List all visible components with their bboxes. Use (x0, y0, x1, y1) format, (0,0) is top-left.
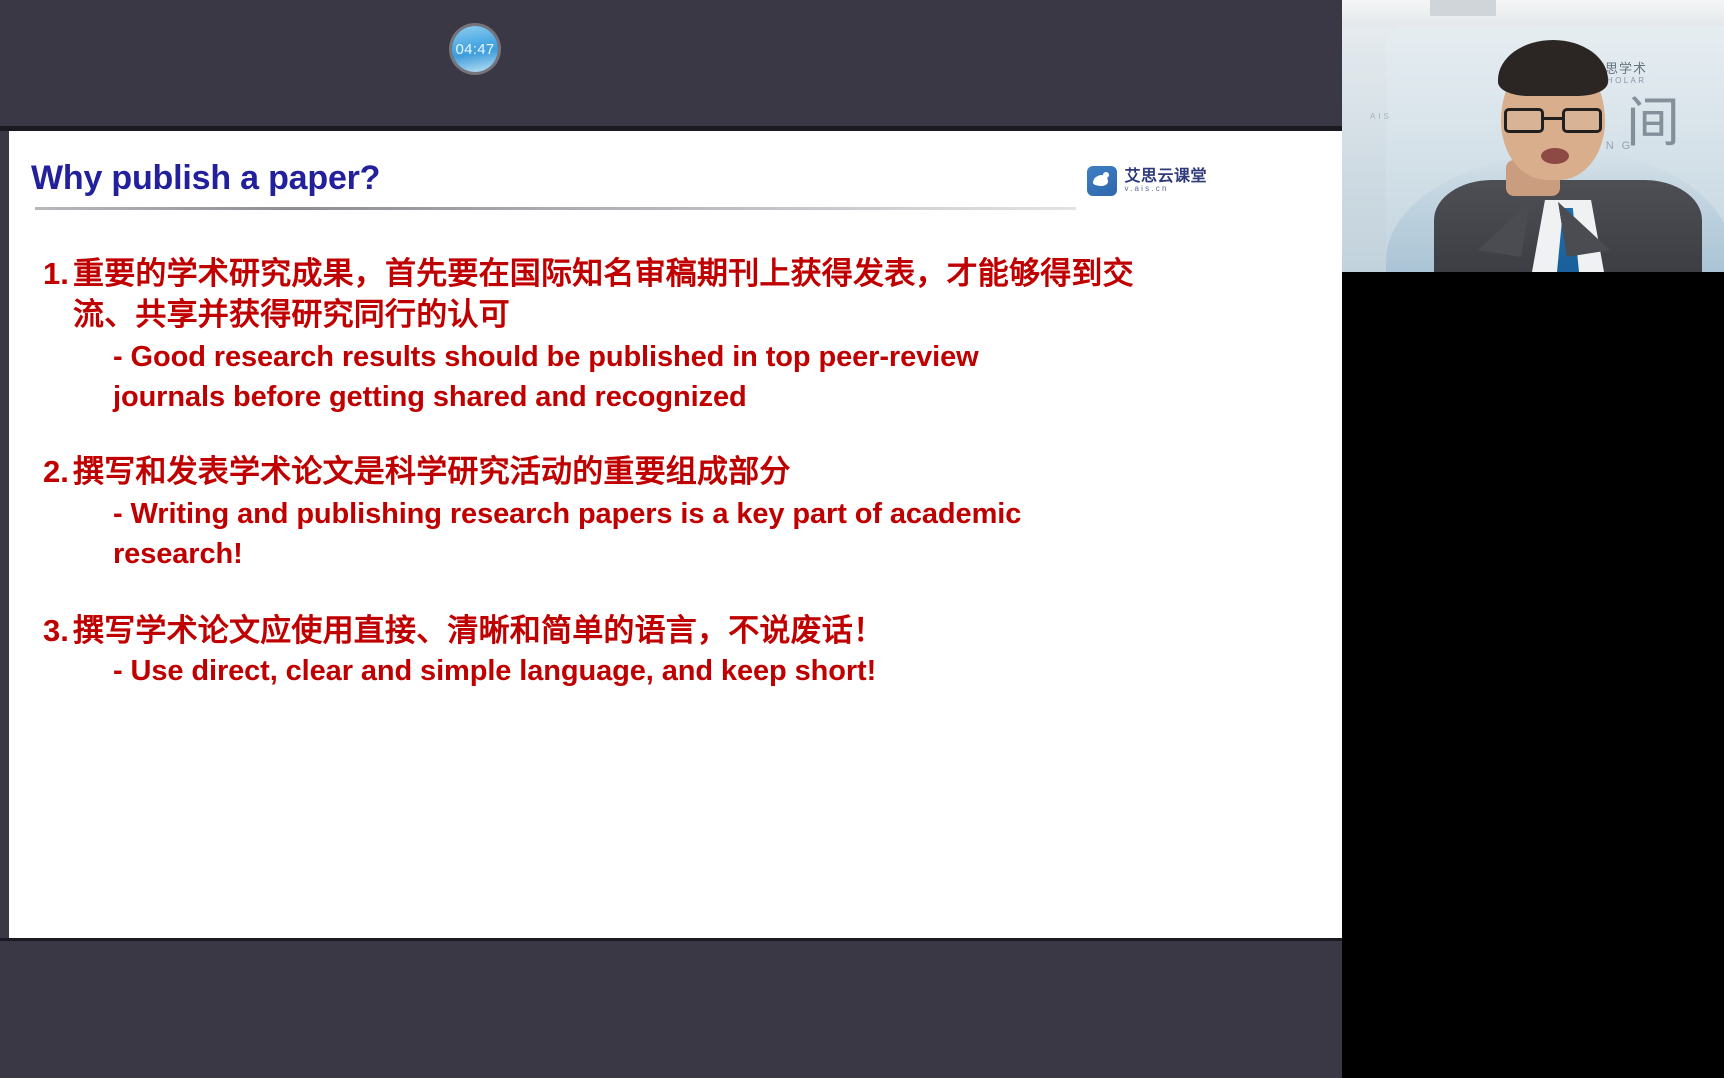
presentation-stage: 04:47 Why publish a paper? 艾思云课堂 v.ais.c… (0, 0, 1342, 1078)
presenter-webcam-video[interactable]: AIS 艾思学术 SCHOLAR 间 LEARNING (1342, 0, 1724, 272)
slide-canvas: Why publish a paper? 艾思云课堂 v.ais.cn 1. 重… (9, 131, 1342, 938)
bullet-item-3: 3. 撰写学术论文应使用直接、清晰和简单的语言，不说废话！ - Use dire… (37, 610, 1316, 691)
bullet-3-text-en: - Use direct, clear and simple language,… (113, 651, 1063, 691)
glasses-lens-right (1562, 108, 1602, 133)
bullet-3-main: 3. 撰写学术论文应使用直接、清晰和简单的语言，不说废话！ (37, 610, 1316, 651)
presenter-mouth (1541, 148, 1569, 164)
title-underline-rule (35, 207, 1076, 210)
slide-bullet-list: 1. 重要的学术研究成果，首先要在国际知名审稿期刊上获得发表，才能够得到交流、共… (37, 253, 1316, 715)
stage-bottom-bar (0, 938, 1342, 1078)
webcam-empty-area (1342, 272, 1724, 1078)
bullet-2-number: 2. (37, 451, 73, 492)
bullet-3-text-cn: 撰写学术论文应使用直接、清晰和简单的语言，不说废话！ (73, 610, 884, 651)
bullet-2-text-en: - Writing and publishing research papers… (113, 494, 1063, 574)
bullet-1-main: 1. 重要的学术研究成果，首先要在国际知名审稿期刊上获得发表，才能够得到交流、共… (37, 253, 1316, 335)
glasses-lens-left (1504, 108, 1544, 133)
slide-brand-url: v.ais.cn (1124, 185, 1207, 193)
presenter-figure (1342, 0, 1724, 272)
video-player-screen: 04:47 Why publish a paper? 艾思云课堂 v.ais.c… (0, 0, 1724, 1078)
session-timer-badge[interactable]: 04:47 (452, 26, 498, 72)
bullet-item-2: 2. 撰写和发表学术论文是科学研究活动的重要组成部分 - Writing and… (37, 451, 1316, 574)
slide-brand-text: 艾思云课堂 v.ais.cn (1124, 169, 1207, 193)
presenter-hair (1498, 40, 1608, 96)
bullet-2-text-cn: 撰写和发表学术论文是科学研究活动的重要组成部分 (73, 451, 791, 492)
slide-brand-name-cn: 艾思云课堂 (1124, 169, 1207, 185)
bullet-1-number: 1. (37, 253, 73, 294)
bullet-2-main: 2. 撰写和发表学术论文是科学研究活动的重要组成部分 (37, 451, 1316, 492)
slide-title: Why publish a paper? (31, 159, 380, 198)
bullet-item-1: 1. 重要的学术研究成果，首先要在国际知名审稿期刊上获得发表，才能够得到交流、共… (37, 253, 1316, 417)
webcam-column: AIS 艾思学术 SCHOLAR 间 LEARNING (1342, 0, 1724, 1078)
glasses-bridge (1544, 117, 1562, 120)
presenter-glasses-icon (1504, 108, 1602, 134)
bullet-1-text-en: - Good research results should be publis… (113, 337, 1063, 417)
bullet-3-number: 3. (37, 610, 73, 651)
ais-cloud-classroom-logo-icon (1087, 166, 1117, 196)
slide-brand-logo: 艾思云课堂 v.ais.cn (1087, 166, 1207, 196)
bullet-1-text-cn: 重要的学术研究成果，首先要在国际知名审稿期刊上获得发表，才能够得到交流、共享并获… (73, 253, 1143, 335)
session-timer-value: 04:47 (455, 41, 494, 58)
